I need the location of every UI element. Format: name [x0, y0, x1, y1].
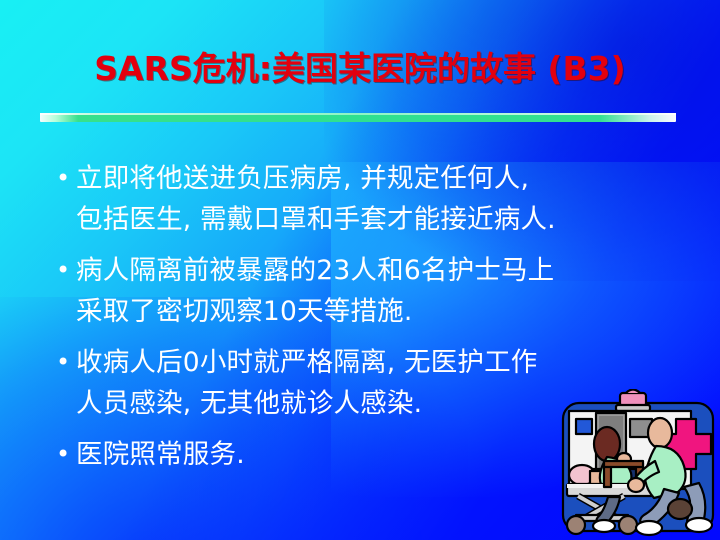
divider-highlight	[40, 113, 676, 115]
ambulance-light-bar	[616, 390, 650, 412]
bullet-marker-icon: •	[56, 434, 76, 475]
bullet-marker-icon: •	[56, 342, 76, 383]
list-item: • 病人隔离前被暴露的23人和6名护士马上 采取了密切观察10天等措施.	[56, 250, 664, 332]
slide-canvas: SARS危机:美国某医院的故事 (B3) • 立即将他送进负压病房, 并规定任何…	[0, 0, 720, 540]
slide-title: SARS危机:美国某医院的故事 (B3)	[0, 42, 720, 90]
bullet-text: 立即将他送进负压病房, 并规定任何人, 包括医生, 需戴口罩和手套才能接近病人.	[76, 158, 664, 240]
ambulance-illustration	[552, 389, 720, 540]
title-divider	[40, 113, 676, 122]
bullet-marker-icon: •	[56, 250, 76, 291]
bullet-text: 病人隔离前被暴露的23人和6名护士马上 采取了密切观察10天等措施.	[76, 250, 664, 332]
list-item: • 立即将他送进负压病房, 并规定任何人, 包括医生, 需戴口罩和手套才能接近病…	[56, 158, 664, 240]
bullet-marker-icon: •	[56, 158, 76, 199]
